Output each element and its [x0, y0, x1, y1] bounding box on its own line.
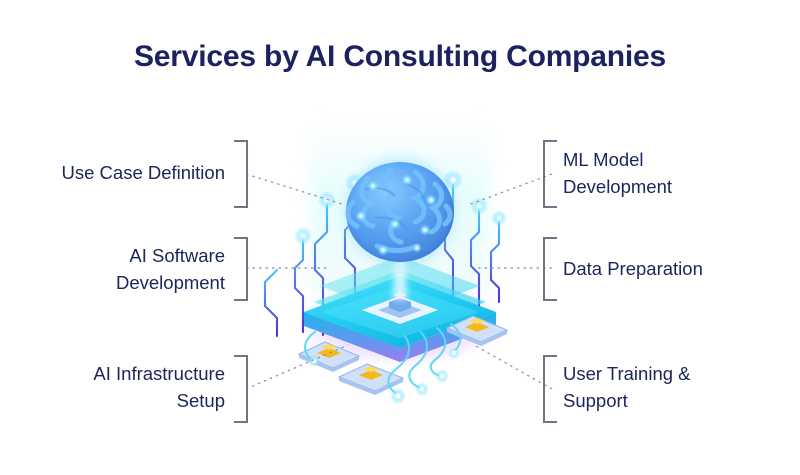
bracket-left-1	[234, 140, 248, 208]
bracket-right-1	[543, 140, 557, 208]
bracket-right-2	[543, 237, 557, 301]
service-label-use-case-definition: Use Case Definition	[10, 159, 225, 186]
page-title: Services by AI Consulting Companies	[0, 40, 800, 74]
bracket-right-3	[543, 355, 557, 423]
service-label-ml-model-development: ML Model Development	[563, 146, 793, 200]
service-label-user-training-support: User Training & Support	[563, 360, 793, 414]
service-label-ai-infrastructure-setup: AI Infrastructure Setup	[10, 360, 225, 414]
bracket-left-2	[234, 237, 248, 301]
service-label-ai-software-development: AI Software Development	[10, 242, 225, 296]
bracket-left-3	[234, 355, 248, 423]
ai-chip-brain-illustration	[255, 120, 545, 410]
service-label-data-preparation: Data Preparation	[563, 255, 793, 282]
infographic-canvas: Services by AI Consulting Companies	[0, 0, 800, 475]
